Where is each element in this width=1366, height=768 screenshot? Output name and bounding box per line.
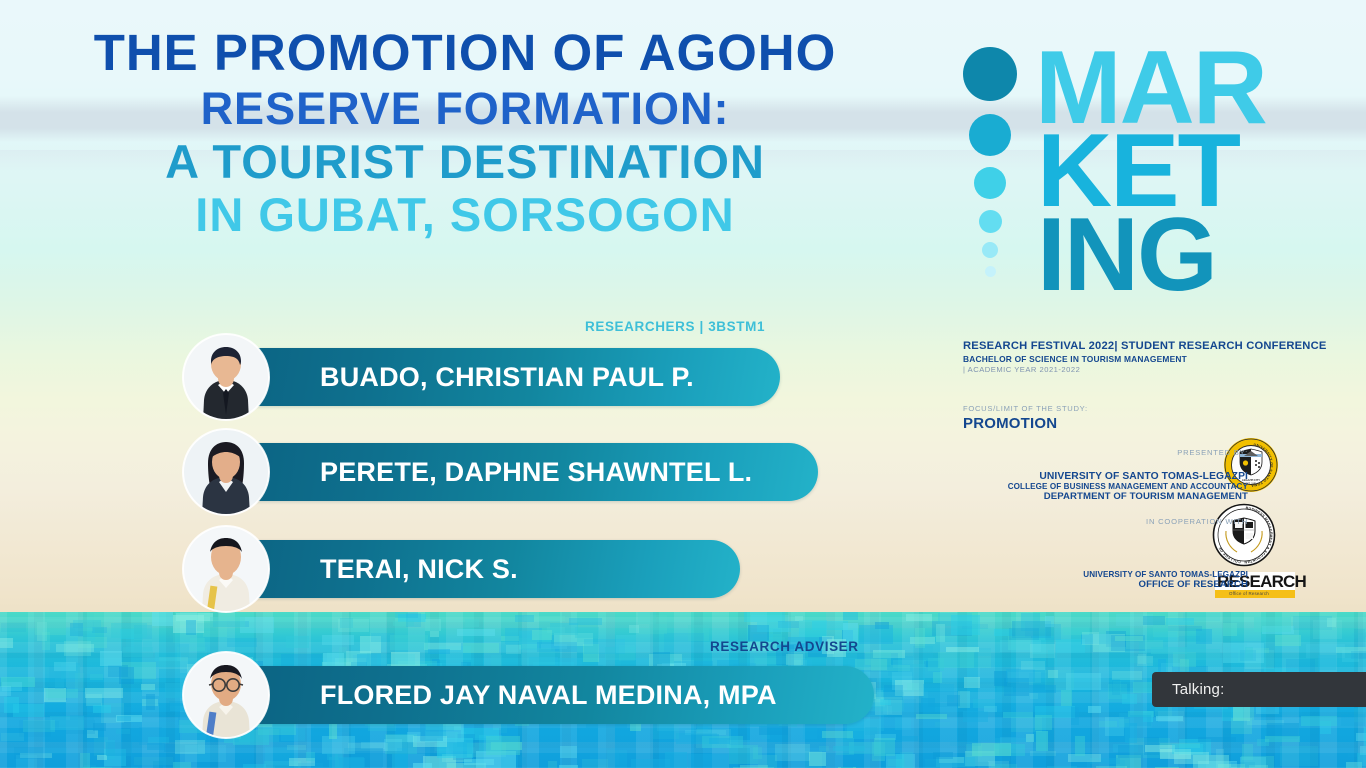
water-tile [397, 748, 407, 768]
water-tile [327, 754, 338, 760]
water-tile [179, 644, 189, 658]
water-tile [243, 764, 266, 768]
researcher-name: TERAI, NICK S. [320, 554, 518, 585]
water-tile [888, 759, 905, 766]
water-tile [117, 716, 131, 721]
water-tile [486, 736, 520, 755]
marketing-wordmark: MAR KET ING [1035, 44, 1345, 300]
cooperation-block: IN COOPERATION WITH [970, 517, 1248, 526]
title-line-2: RESERVE FORMATION: [0, 86, 930, 131]
water-tile [799, 620, 827, 637]
water-tile [134, 757, 173, 765]
avatar [183, 429, 269, 515]
water-tile [884, 685, 903, 700]
water-tile [906, 614, 932, 621]
water-tile [70, 715, 94, 720]
avatar [183, 652, 269, 738]
adviser-section-label: RESEARCH ADVISER [710, 639, 859, 654]
male-photo-avatar-icon [183, 526, 269, 612]
water-tile [322, 635, 354, 645]
marketing-dots-column [958, 47, 1022, 277]
water-tile [805, 751, 822, 768]
presented-by-label: PRESENTED BY: [970, 448, 1248, 457]
water-tile [119, 667, 134, 684]
water-tile [515, 615, 534, 622]
water-tile [915, 628, 925, 648]
researcher-name: BUADO, CHRISTIAN PAUL P. [320, 362, 694, 393]
male-photo-avatar-icon [183, 334, 269, 420]
water-tile [560, 746, 577, 758]
marketing-letters-row-3: ING [1037, 211, 1345, 300]
office-line-2: OFFICE OF RESEARCH [970, 579, 1248, 590]
water-tile [339, 758, 365, 767]
water-tile [664, 633, 704, 653]
water-tile [759, 726, 788, 735]
water-tile [159, 657, 188, 669]
water-tile [286, 636, 309, 648]
water-tile [152, 612, 173, 626]
water-tile [753, 747, 762, 759]
water-tile [173, 762, 191, 768]
water-tile [864, 740, 902, 759]
water-tile [123, 647, 153, 657]
water-tile [298, 763, 323, 768]
focus-block: FOCUS/LIMIT OF THE STUDY: PROMOTION [963, 404, 1088, 432]
marketing-dot [963, 47, 1017, 101]
water-tile [463, 643, 499, 653]
water-tile [197, 623, 216, 631]
water-tile [425, 619, 441, 631]
water-tile [111, 623, 147, 638]
water-tile [395, 612, 418, 618]
water-tile [19, 720, 51, 737]
water-tile [148, 737, 169, 743]
marketing-dot [985, 266, 996, 277]
title-line-1: THE PROMOTION OF AGOHO [0, 27, 930, 78]
focus-label: FOCUS/LIMIT OF THE STUDY: [963, 404, 1088, 413]
researcher-pill[interactable]: TERAI, NICK S. [190, 540, 740, 598]
office-of-research-block: UNIVERSITY OF SANTO TOMAS-LEGAZPI OFFICE… [970, 570, 1248, 590]
cooperation-label: IN COOPERATION WITH [970, 517, 1248, 526]
water-tile [185, 745, 226, 762]
water-tile [819, 746, 829, 751]
water-tile [390, 635, 428, 650]
water-tile [306, 752, 315, 761]
water-tile [14, 747, 43, 759]
water-tile [569, 618, 602, 625]
water-tile [913, 646, 933, 660]
researchers-section-label: RESEARCHERS | 3BSTM1 [585, 319, 765, 334]
water-tile [653, 652, 670, 667]
water-tile [464, 759, 494, 765]
event-line-1: RESEARCH FESTIVAL 2022| STUDENT RESEARCH… [963, 340, 1363, 352]
water-tile [37, 622, 47, 641]
water-tile [843, 612, 858, 620]
page-title: THE PROMOTION OF AGOHO RESERVE FORMATION… [0, 27, 930, 238]
water-tile [590, 748, 619, 765]
water-tile [70, 623, 83, 636]
researcher-pill[interactable]: PERETE, DAPHNE SHAWNTEL L. [190, 443, 818, 501]
office-line-1: UNIVERSITY OF SANTO TOMAS-LEGAZPI [970, 570, 1248, 579]
water-tile [116, 729, 130, 734]
water-tile [921, 698, 935, 712]
marketing-dot [974, 167, 1006, 199]
water-tile [106, 742, 132, 756]
water-tile [757, 622, 791, 632]
adviser-pill[interactable]: FLORED JAY NAVAL MEDINA, MPA [190, 666, 874, 724]
water-tile [85, 688, 123, 698]
water-tile [547, 627, 565, 633]
water-tile [141, 684, 155, 690]
water-tile [616, 635, 636, 653]
water-tile [413, 763, 432, 768]
water-tile [709, 738, 730, 744]
water-tile [893, 660, 926, 668]
water-tile [100, 651, 122, 666]
water-tile [322, 736, 355, 754]
water-tile [46, 689, 78, 698]
water-tile [190, 638, 205, 651]
water-tile [420, 722, 443, 741]
avatar [183, 526, 269, 612]
water-tile [430, 631, 439, 637]
water-tile [883, 706, 892, 714]
presented-by-block: PRESENTED BY: UNIVERSITY OF SANTO TOMAS-… [970, 448, 1248, 502]
title-line-3: A TOURIST DESTINATION [0, 138, 930, 185]
water-tile [665, 752, 687, 768]
water-tile [803, 723, 817, 739]
water-tile [786, 654, 803, 665]
water-tile [377, 654, 415, 665]
water-tile [428, 649, 450, 654]
presented-by-line-2: COLLEGE OF BUSINESS MANAGEMENT AND ACCOU… [970, 482, 1248, 491]
water-tile [340, 618, 353, 628]
water-tile [80, 753, 90, 768]
water-tile [425, 726, 454, 731]
water-tile [859, 625, 893, 644]
water-tile [548, 761, 557, 768]
event-line-2: BACHELOR OF SCIENCE IN TOURISM MANAGEMEN… [963, 354, 1363, 364]
title-line-4: IN GUBAT, SORSOGON [0, 191, 930, 238]
water-tile [629, 625, 639, 633]
water-tile [329, 723, 337, 739]
water-tile [457, 629, 495, 636]
water-tile [93, 705, 111, 713]
talking-status-bar: Talking: [1152, 672, 1366, 707]
water-tile [13, 704, 44, 717]
researcher-name: PERETE, DAPHNE SHAWNTEL L. [320, 457, 752, 488]
water-tile [1, 623, 26, 632]
water-tile [649, 624, 667, 630]
presented-by-line-3: DEPARTMENT OF TOURISM MANAGEMENT [970, 491, 1248, 502]
water-tile [227, 638, 257, 647]
water-tile [75, 673, 84, 691]
water-tile [688, 754, 728, 768]
water-tile [833, 746, 865, 751]
water-tile [437, 749, 451, 758]
presented-by-line-1: UNIVERSITY OF SANTO TOMAS-LEGAZPI [970, 471, 1248, 482]
water-tile [2, 682, 22, 691]
water-tile [287, 745, 306, 750]
event-line-3: | ACADEMIC YEAR 2021-2022 [963, 365, 1363, 374]
water-tile [521, 648, 555, 665]
water-tile [465, 619, 479, 627]
talking-label: Talking: [1172, 681, 1224, 698]
water-tile [407, 732, 421, 742]
adviser-name: FLORED JAY NAVAL MEDINA, MPA [320, 680, 777, 711]
marketing-dot [982, 242, 998, 258]
marketing-dot [979, 210, 1002, 233]
water-tile [888, 699, 916, 718]
female-photo-avatar-icon [183, 429, 269, 515]
water-tile [90, 674, 103, 680]
focus-value: PROMOTION [963, 415, 1088, 432]
water-tile [54, 662, 76, 671]
event-info: RESEARCH FESTIVAL 2022| STUDENT RESEARCH… [963, 340, 1363, 374]
water-tile [146, 694, 155, 710]
water-tile [895, 717, 911, 730]
researcher-pill[interactable]: BUADO, CHRISTIAN PAUL P. [190, 348, 780, 406]
water-tile [64, 641, 91, 656]
water-tile [0, 638, 13, 648]
water-tile [822, 731, 853, 738]
water-tile [575, 627, 599, 638]
marketing-dot [969, 114, 1011, 156]
avatar [183, 334, 269, 420]
right-branding-panel: MAR KET ING RESEARCH FESTIVAL 2022| STUD… [940, 0, 1366, 768]
male-glasses-photo-avatar-icon [183, 652, 269, 738]
water-tile [339, 647, 347, 663]
water-tile [506, 645, 521, 654]
water-tile [186, 620, 196, 635]
